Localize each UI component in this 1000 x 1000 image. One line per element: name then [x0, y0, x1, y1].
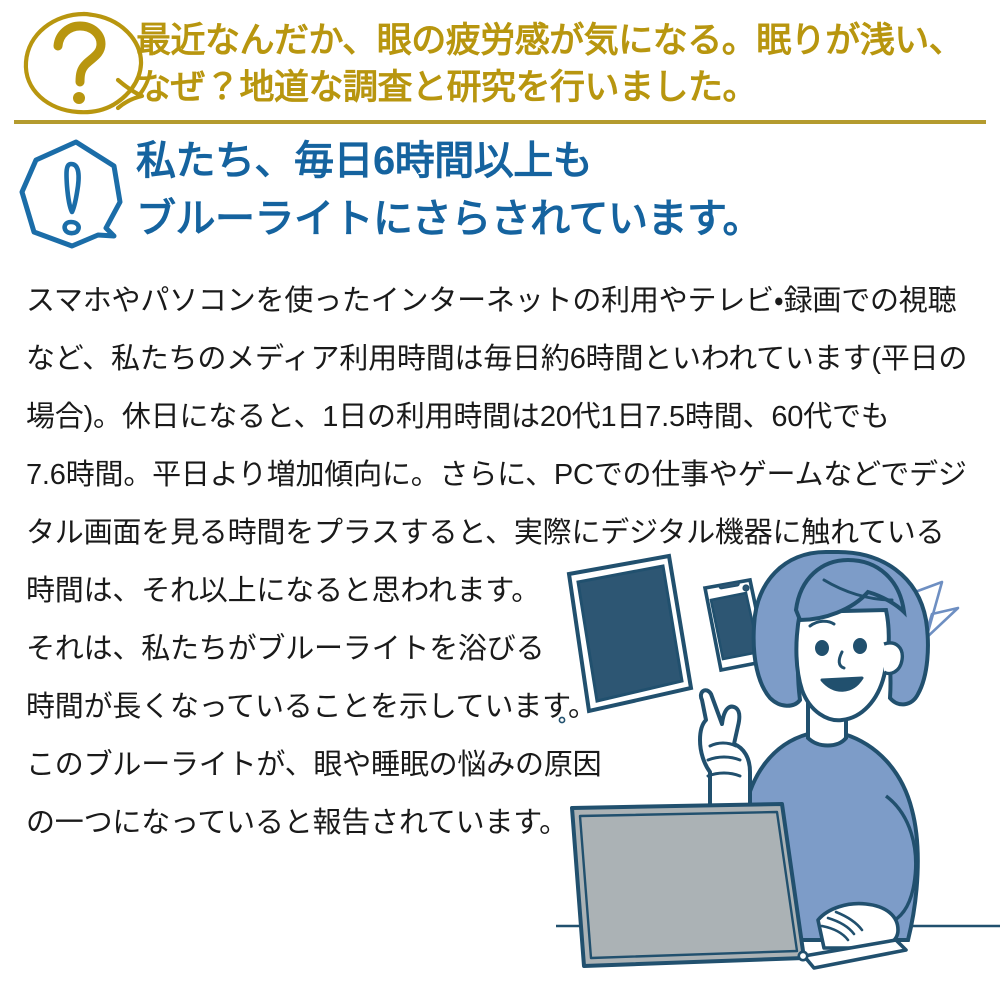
- headline-block: 私たち、毎日6時間以上も ブルーライトにさらされています。: [0, 128, 1000, 258]
- gold-divider: [14, 120, 986, 124]
- body-line-3: 場合)。休日になると、1日の利用時間は20代1日7.5時間、60代でも: [26, 388, 986, 446]
- question-speech-bubble-icon: [18, 10, 148, 122]
- body-line-2: など、私たちのメディア利用時間は毎日約6時間といわれています(平日の: [26, 330, 986, 388]
- exclamation-speech-bubble-icon: [14, 136, 136, 254]
- pointing-hand: [700, 690, 750, 816]
- eye-left: [815, 640, 829, 656]
- question-block: 最近なんだか、眼の疲労感が気になる。眠りが浅い、 なぜ？地道な調査と研究を行いま…: [0, 0, 1000, 122]
- body-line-4: 7.6時間。平日より増加傾向に。さらに、PCでの仕事やゲームなどでデジ: [26, 446, 986, 504]
- poster-page: 最近なんだか、眼の疲労感が気になる。眠りが浅い、 なぜ？地道な調査と研究を行いま…: [0, 0, 1000, 1000]
- eye-right: [853, 638, 867, 654]
- body-line-1: スマホやパソコンを使ったインターネットの利用やテレビ・録画での視聴: [26, 272, 986, 330]
- headline-line-1: 私たち、毎日6時間以上も: [136, 132, 996, 190]
- stray-dot: [559, 717, 564, 722]
- headline-line-2: ブルーライトにさらされています。: [136, 190, 996, 248]
- headline-text: 私たち、毎日6時間以上も ブルーライトにさらされています。: [136, 132, 996, 248]
- question-line-2: なぜ？地道な調査と研究を行いました。: [136, 64, 996, 111]
- woman-with-devices-illustration: [556, 548, 1000, 1000]
- question-text: 最近なんだか、眼の疲労感が気になる。眠りが浅い、 なぜ？地道な調査と研究を行いま…: [136, 17, 996, 111]
- question-line-1: 最近なんだか、眼の疲労感が気になる。眠りが浅い、: [136, 17, 996, 64]
- tablet-device: [569, 556, 691, 711]
